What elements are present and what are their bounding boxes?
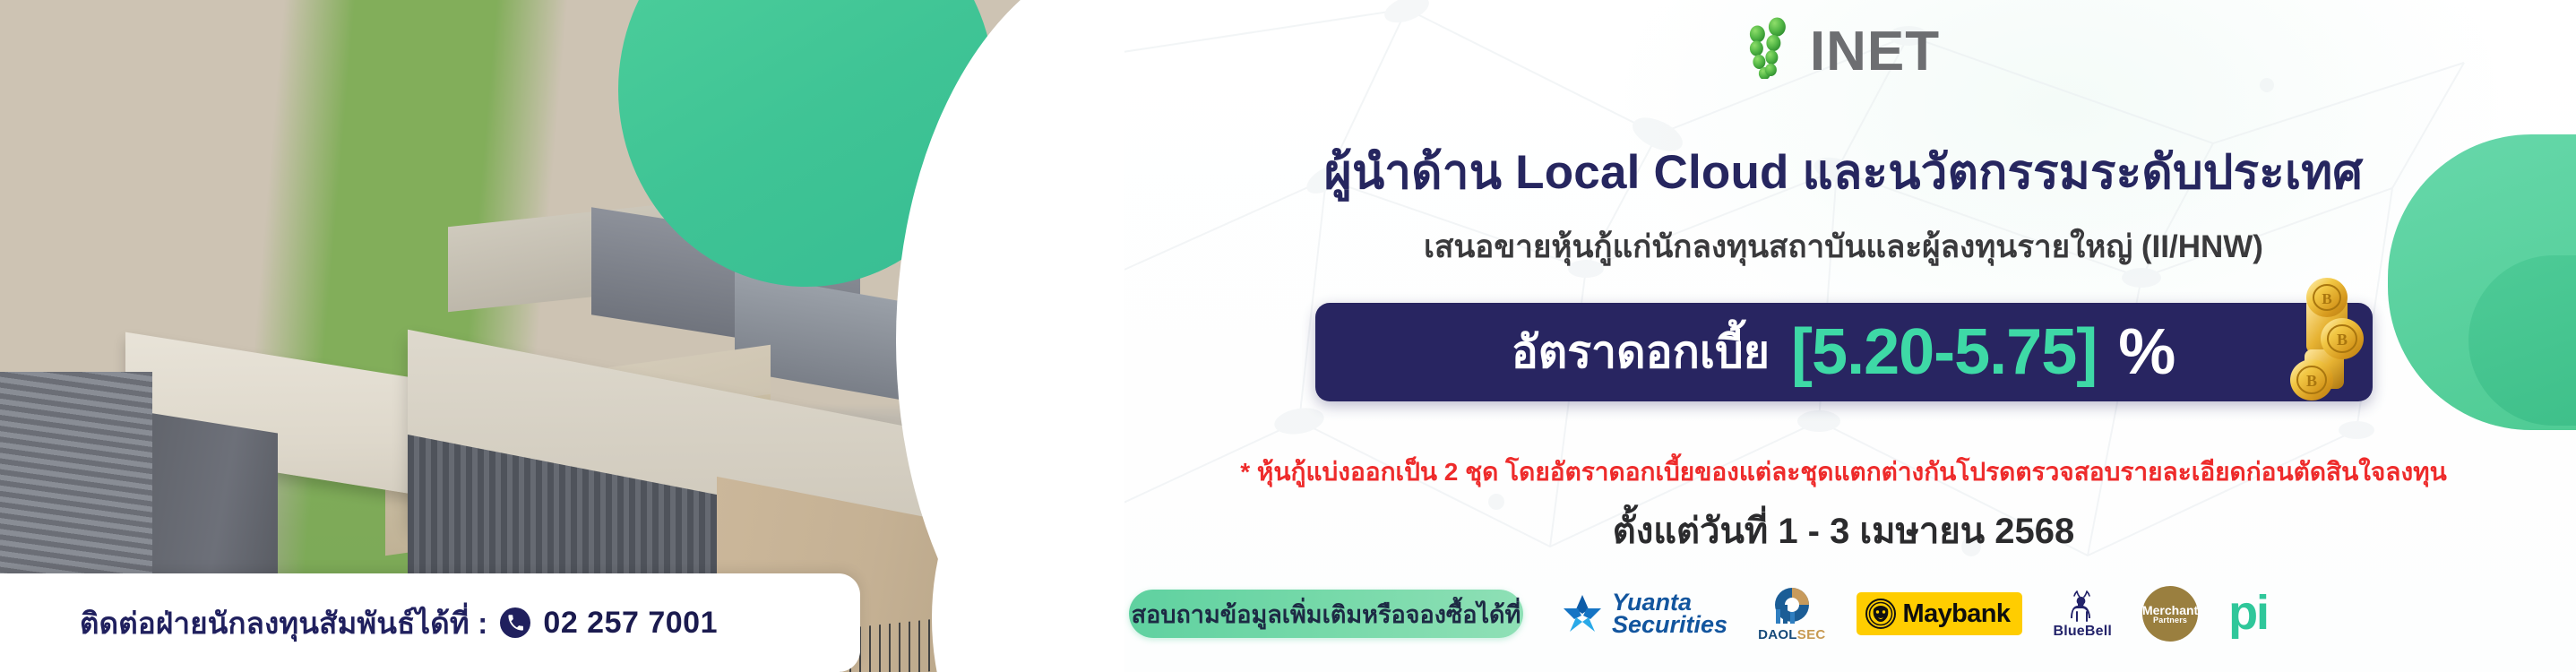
inet-dots-logo-icon [1747, 16, 1803, 79]
interest-rate-bar: อัตราดอกเบี้ย [5.20-5.75] % [1315, 303, 2373, 401]
bluebell-deer-icon [2065, 588, 2099, 624]
yuanta-line-2: Securities [1612, 614, 1727, 636]
phone-icon [500, 607, 530, 638]
cta-button[interactable]: สอบถามข้อมูลเพิ่มเติมหรือจองซื้อได้ที่ [1129, 590, 1523, 638]
broker-logo-list: Yuanta Securities DAOLSEC [1546, 585, 2563, 642]
investor-relations-contact-card: ติดต่อฝ่ายนักลงทุนสัมพันธ์ได้ที่ : 02 25… [0, 573, 860, 672]
interest-rate-value: [5.20-5.75] [1791, 315, 2097, 389]
maybank-tiger-icon [1865, 599, 1896, 629]
broker-logo-daol[interactable]: DAOLSEC [1758, 585, 1825, 642]
inet-promotional-banner: ติดต่อฝ่ายนักลงทุนสัมพันธ์ได้ที่ : 02 25… [0, 0, 2576, 672]
daol-circle-icon [1771, 585, 1813, 626]
svg-text:B: B [2322, 290, 2331, 307]
photo-building-shade-screen [0, 372, 152, 605]
inet-logo: INET [1747, 16, 1940, 79]
offering-date-range: ตั้งแต่วันที่ 1 - 3 เมษายน 2568 [1111, 502, 2576, 559]
contact-label: ติดต่อฝ่ายนักลงทุนสัมพันธ์ได้ที่ : [80, 599, 487, 647]
merchant-partners-icon: Merchant Partners [2142, 586, 2198, 642]
broker-logo-pi[interactable]: pi [2228, 594, 2268, 633]
maybank-label: Maybank [1903, 599, 2011, 629]
merchant-line-1: Merchant [2142, 604, 2198, 616]
yuanta-star-icon [1561, 592, 1604, 635]
broker-logo-yuanta[interactable]: Yuanta Securities [1561, 591, 1727, 636]
bluebell-label: BlueBell [2053, 624, 2112, 640]
daol-suffix: SEC [1797, 627, 1826, 642]
svg-text:B: B [2305, 372, 2316, 390]
footer-row: สอบถามข้อมูลเพิ่มเติมหรือจองซื้อได้ที่ [1129, 578, 2563, 650]
disclaimer-text: * หุ้นกู้แบ่งออกเป็น 2 ชุด โดยอัตราดอกเบ… [1111, 452, 2576, 492]
broker-logo-merchant-partners[interactable]: Merchant Partners [2142, 586, 2198, 642]
cta-button-label: สอบถามข้อมูลเพิ่มเติมหรือจองซื้อได้ที่ [1132, 595, 1521, 633]
daol-label: DAOLSEC [1758, 627, 1825, 642]
gold-coins-icon: B B B [2260, 274, 2365, 409]
broker-logo-bluebell[interactable]: BlueBell [2053, 588, 2112, 640]
interest-rate-label: อัตราดอกเบี้ย [1512, 317, 1770, 388]
contact-phone-number[interactable]: 02 257 7001 [543, 606, 718, 641]
inet-logo-text: INET [1810, 26, 1940, 79]
pi-wordmark-icon: pi [2228, 594, 2268, 633]
banner-content: INET ผู้นำด้าน Local Cloud และนวัตกรรมระ… [1111, 0, 2576, 672]
datacenter-photo [0, 0, 1124, 672]
daol-name: DAOL [1758, 627, 1797, 642]
broker-logo-maybank[interactable]: Maybank [1857, 592, 2023, 635]
svg-text:B: B [2336, 331, 2347, 349]
headline: ผู้นำด้าน Local Cloud และนวัตกรรมระดับปร… [1111, 134, 2576, 210]
subheadline: เสนอขายหุ้นกู้แก่นักลงทุนสถาบันและผู้ลงท… [1111, 222, 2576, 271]
merchant-line-2: Partners [2153, 616, 2187, 625]
interest-rate-percent-sign: % [2118, 315, 2175, 389]
